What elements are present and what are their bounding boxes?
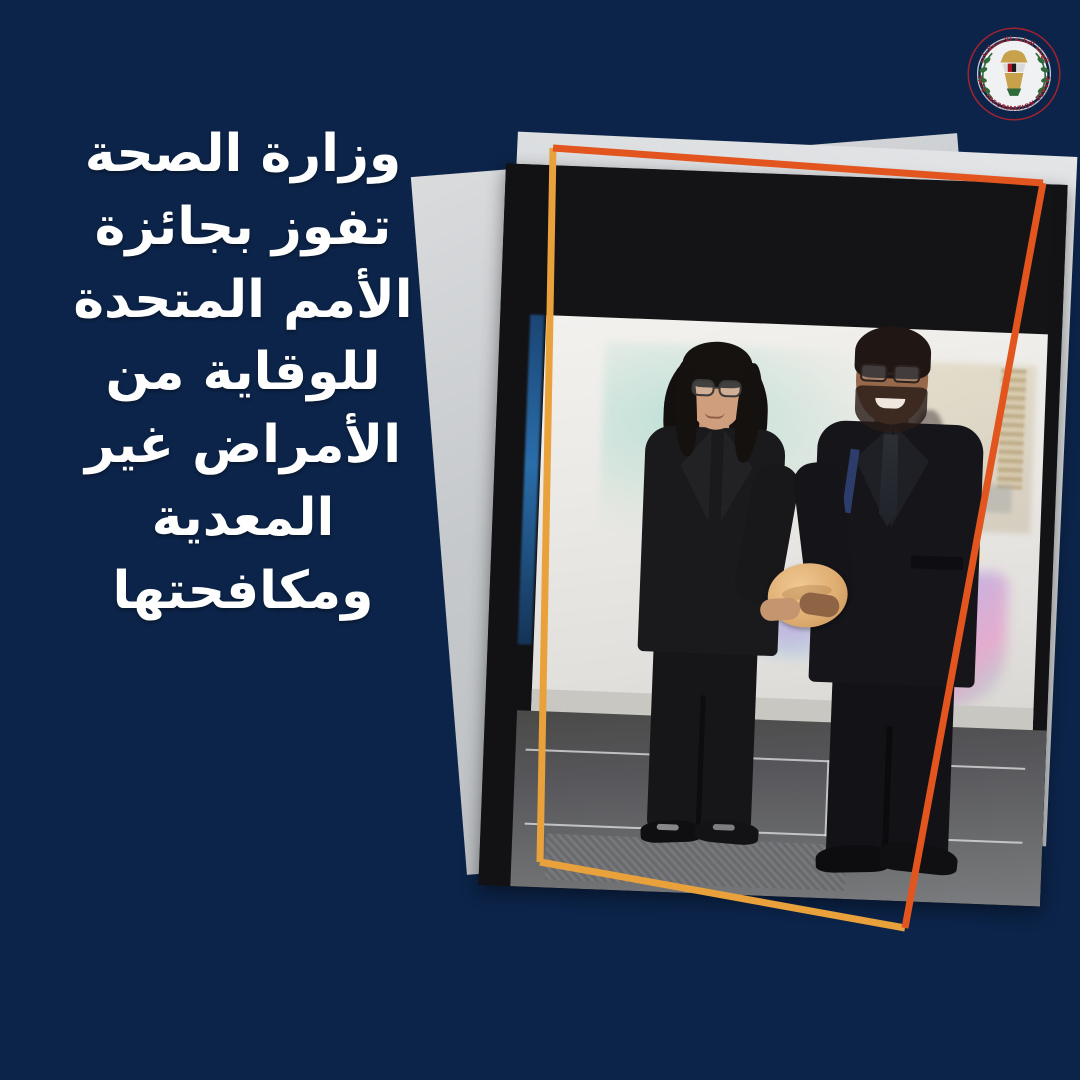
sis-seal-icon: الهيئة العامة للاستعلامات STATE INFORMAT… [962, 22, 1066, 126]
headline-line-6: المعدية [48, 482, 438, 555]
stage-tread-strip [545, 834, 847, 891]
social-media-card: الهيئة العامة للاستعلامات STATE INFORMAT… [0, 0, 1080, 1080]
man-glasses-right-lens [893, 365, 921, 384]
woman-glasses-right-lens [718, 380, 742, 398]
woman-glasses-bridge [715, 387, 720, 390]
headline-line-4: للوقاية من [48, 336, 438, 409]
stage-floor [510, 710, 1046, 906]
headline-line-3: الأمم المتحدة [48, 264, 438, 337]
photo-collage: 7 [430, 140, 1070, 920]
man-glasses-bridge [887, 372, 894, 375]
headline-line-1: وزارة الصحة [48, 118, 438, 191]
man-glasses-left-lens [860, 363, 888, 382]
headline-text: وزارة الصحة تفوز بجائزة الأمم المتحدة لل… [48, 118, 438, 628]
headline-line-5: الأمراض غير [48, 409, 438, 482]
man-jacket-pocket [911, 555, 963, 570]
woman-hand-lower [759, 597, 800, 622]
award-ceremony-photo: 7 [478, 163, 1067, 906]
woman-shoe-buckle-left [657, 824, 679, 831]
projected-column [997, 369, 1027, 490]
room-ceiling [500, 163, 1067, 334]
state-information-service-logo: الهيئة العامة للاستعلامات STATE INFORMAT… [962, 22, 1066, 126]
headline-line-2: تفوز بجائزة [48, 191, 438, 264]
woman-glasses-left-lens [691, 379, 715, 397]
woman-shoe-buckle-right [713, 824, 735, 831]
headline-line-7: ومكافحتها [48, 555, 438, 628]
